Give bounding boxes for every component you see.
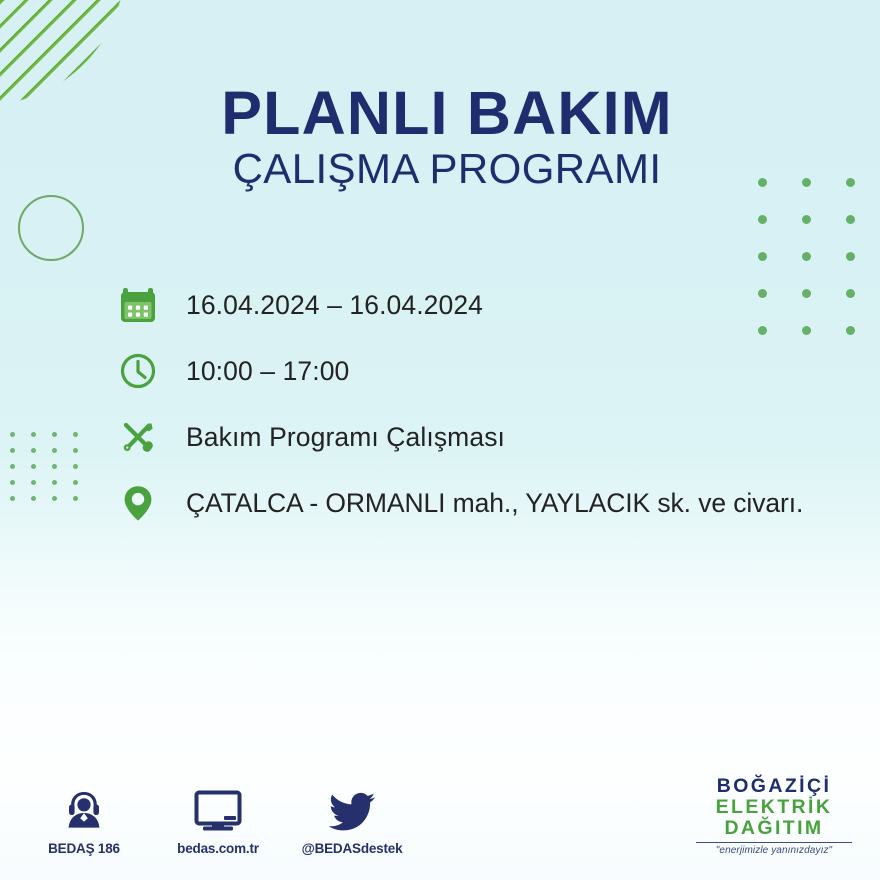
dot [73,448,78,453]
contact-call-center-label: BEDAŞ 186 [48,841,120,856]
detail-row-time: 10:00 – 17:00 [118,338,858,404]
page-title: PLANLI BAKIM [0,82,880,144]
logo-line-dagitim: DAĞITIM [690,818,858,839]
dot-grid-left-decoration [10,432,90,502]
detail-row-date: 16.04.2024 – 16.04.2024 [118,272,858,338]
dot [52,480,57,485]
contact-twitter-label: @BEDASdestek [302,841,403,856]
dot [802,252,811,261]
dot [73,464,78,469]
logo-line-elektrik: ELEKTRİK [690,797,858,818]
date-range-text: 16.04.2024 – 16.04.2024 [172,290,483,321]
dot [10,464,15,469]
twitter-bird-icon [328,782,376,832]
circle-outline-decoration [18,195,84,261]
tools-icon [118,410,172,464]
bedas-logo: BOĞAZİÇİ ELEKTRİK DAĞITIM "enerjimizle y… [690,776,858,856]
detail-row-location: ÇATALCA - ORMANLI mah., YAYLACIK sk. ve … [118,470,858,536]
dot [846,215,855,224]
dot [31,496,36,501]
dot [52,496,57,501]
time-range-text: 10:00 – 17:00 [172,356,349,387]
dot [31,448,36,453]
dot [31,432,36,437]
dot [10,448,15,453]
dot [73,432,78,437]
location-pin-icon [118,476,172,530]
planned-maintenance-poster: PLANLI BAKIM ÇALIŞMA PROGRAMI [0,0,880,880]
dot [758,215,767,224]
dot [846,252,855,261]
dot [10,432,15,437]
logo-line-bogazici: BOĞAZİÇİ [690,776,858,797]
dot [52,448,57,453]
dot [52,464,57,469]
dot [31,480,36,485]
contact-website[interactable]: bedas.com.tr [172,782,264,856]
support-agent-icon [63,782,105,832]
contact-twitter[interactable]: @BEDASdestek [306,782,398,856]
logo-tagline: "enerjimizle yanınızdayız" [690,845,858,856]
dot [73,480,78,485]
dot [73,496,78,501]
work-type-text: Bakım Programı Çalışması [172,422,505,453]
footer-contacts: BEDAŞ 186 bedas.com.tr @BEDASdestek [38,782,398,856]
dot [31,464,36,469]
dot [10,496,15,501]
maintenance-details-list: 16.04.2024 – 16.04.2024 10:00 – 17:00 [118,272,858,536]
poster-header: PLANLI BAKIM ÇALIŞMA PROGRAMI [0,82,880,194]
contact-call-center[interactable]: BEDAŞ 186 [38,782,130,856]
detail-row-work-type: Bakım Programı Çalışması [118,404,858,470]
dot [10,480,15,485]
contact-website-label: bedas.com.tr [177,841,259,856]
location-text: ÇATALCA - ORMANLI mah., YAYLACIK sk. ve … [172,488,803,519]
clock-icon [118,344,172,398]
dot [758,252,767,261]
dot [52,432,57,437]
dot [802,215,811,224]
calendar-icon [118,278,172,332]
page-subtitle: ÇALIŞMA PROGRAMI [0,144,880,194]
monitor-icon [194,782,242,832]
logo-divider [696,842,852,843]
